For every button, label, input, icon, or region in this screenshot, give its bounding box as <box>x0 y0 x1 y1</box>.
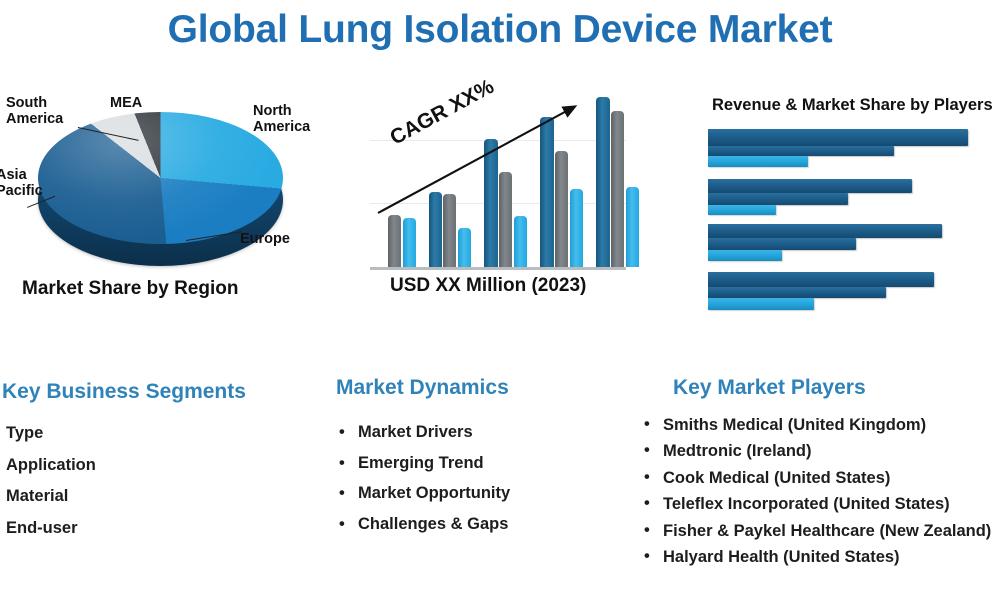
players-row-3-share-bar <box>708 250 782 261</box>
player-item-label: Medtronic (Ireland) <box>663 442 812 460</box>
players-row-4 <box>708 272 1000 312</box>
pie-chart-caption: Market Share by Region <box>22 278 238 300</box>
dynamics-item-label: Challenges & Gaps <box>358 515 508 533</box>
dynamics-item: •Market Opportunity <box>339 485 639 502</box>
bullet-glyph: • <box>644 442 650 459</box>
players-chart-caption: Revenue & Market Share by Players <box>712 96 993 115</box>
bullet-glyph: • <box>339 485 345 502</box>
revenue-market-share-by-players-chart: Revenue & Market Share by Players <box>690 96 1000 296</box>
segment-item: End-user <box>6 520 306 537</box>
pie-label-asia-pacific: AsiaPacific <box>0 168 56 199</box>
players-row-2-share-bar <box>708 205 776 215</box>
market-dynamics-list: •Market Drivers •Emerging Trend •Market … <box>339 424 639 546</box>
key-business-segments-heading: Key Business Segments <box>2 380 246 404</box>
segment-item: Material <box>6 488 306 505</box>
dynamics-item-label: Market Drivers <box>358 423 473 441</box>
dynamics-item: •Challenges & Gaps <box>339 516 639 533</box>
players-row-4-revenue-bar <box>708 272 934 287</box>
pie-label-south-america: SouthAmerica <box>6 96 78 127</box>
players-row-3-revenue-bar <box>708 224 942 238</box>
player-item: •Teleflex Incorporated (United States) <box>644 495 996 514</box>
players-row-4-revenue-prior-bar <box>708 287 886 298</box>
players-row-3 <box>708 224 1000 264</box>
dynamics-item-label: Emerging Trend <box>358 454 484 472</box>
player-item: •Cook Medical (United States) <box>644 469 996 488</box>
pie-label-europe: Europe <box>240 232 290 248</box>
bar-chart-caption: USD XX Million (2023) <box>390 275 586 297</box>
players-row-2-revenue-bar <box>708 179 912 193</box>
dynamics-item: •Emerging Trend <box>339 455 639 472</box>
pie-top-face <box>38 112 283 244</box>
segment-item: Type <box>6 425 306 442</box>
player-item-label: Cook Medical (United States) <box>663 469 890 487</box>
player-item-label: Halyard Health (United States) <box>663 548 900 566</box>
bullet-glyph: • <box>644 469 650 486</box>
player-item: •Medtronic (Ireland) <box>644 442 996 461</box>
players-row-1-revenue-prior-bar <box>708 146 894 156</box>
dynamics-item-label: Market Opportunity <box>358 484 510 502</box>
market-share-by-region-chart: SouthAmerica MEA NorthAmerica AsiaPacifi… <box>0 90 340 305</box>
players-row-3-revenue-prior-bar <box>708 238 856 250</box>
bullet-glyph: • <box>339 424 345 441</box>
pie-label-mea: MEA <box>110 96 142 112</box>
infographic-root: Global Lung Isolation Device Market <box>0 0 1000 600</box>
bullet-glyph: • <box>644 522 650 539</box>
pie-label-north-america: NorthAmerica <box>253 104 339 135</box>
players-row-2-revenue-prior-bar <box>708 193 848 205</box>
pie-graphic <box>38 112 283 272</box>
key-market-players-heading: Key Market Players <box>673 376 866 400</box>
bullet-glyph: • <box>339 455 345 472</box>
player-item: •Fisher & Paykel Healthcare (New Zealand… <box>644 522 996 541</box>
players-row-1-share-bar <box>708 156 808 167</box>
segment-item: Application <box>6 457 306 474</box>
player-item-label: Fisher & Paykel Healthcare (New Zealand) <box>663 522 991 540</box>
bullet-glyph: • <box>339 516 345 533</box>
market-dynamics-heading: Market Dynamics <box>336 376 509 400</box>
players-row-1-revenue-bar <box>708 129 968 146</box>
player-item: •Smiths Medical (United Kingdom) <box>644 416 996 435</box>
key-market-players-list: •Smiths Medical (United Kingdom) •Medtro… <box>644 416 996 575</box>
dynamics-item: •Market Drivers <box>339 424 639 441</box>
bullet-glyph: • <box>644 495 650 512</box>
player-item-label: Smiths Medical (United Kingdom) <box>663 416 926 434</box>
players-row-2 <box>708 179 1000 217</box>
player-item: •Halyard Health (United States) <box>644 548 996 567</box>
page-title: Global Lung Isolation Device Market <box>0 8 1000 52</box>
player-item-label: Teleflex Incorporated (United States) <box>663 495 950 513</box>
players-row-1 <box>708 129 1000 167</box>
bullet-glyph: • <box>644 548 650 565</box>
pie-slice-mea <box>38 112 283 244</box>
players-row-4-share-bar <box>708 298 814 310</box>
bullet-glyph: • <box>644 416 650 433</box>
key-business-segments-list: Type Application Material End-user <box>6 425 306 551</box>
